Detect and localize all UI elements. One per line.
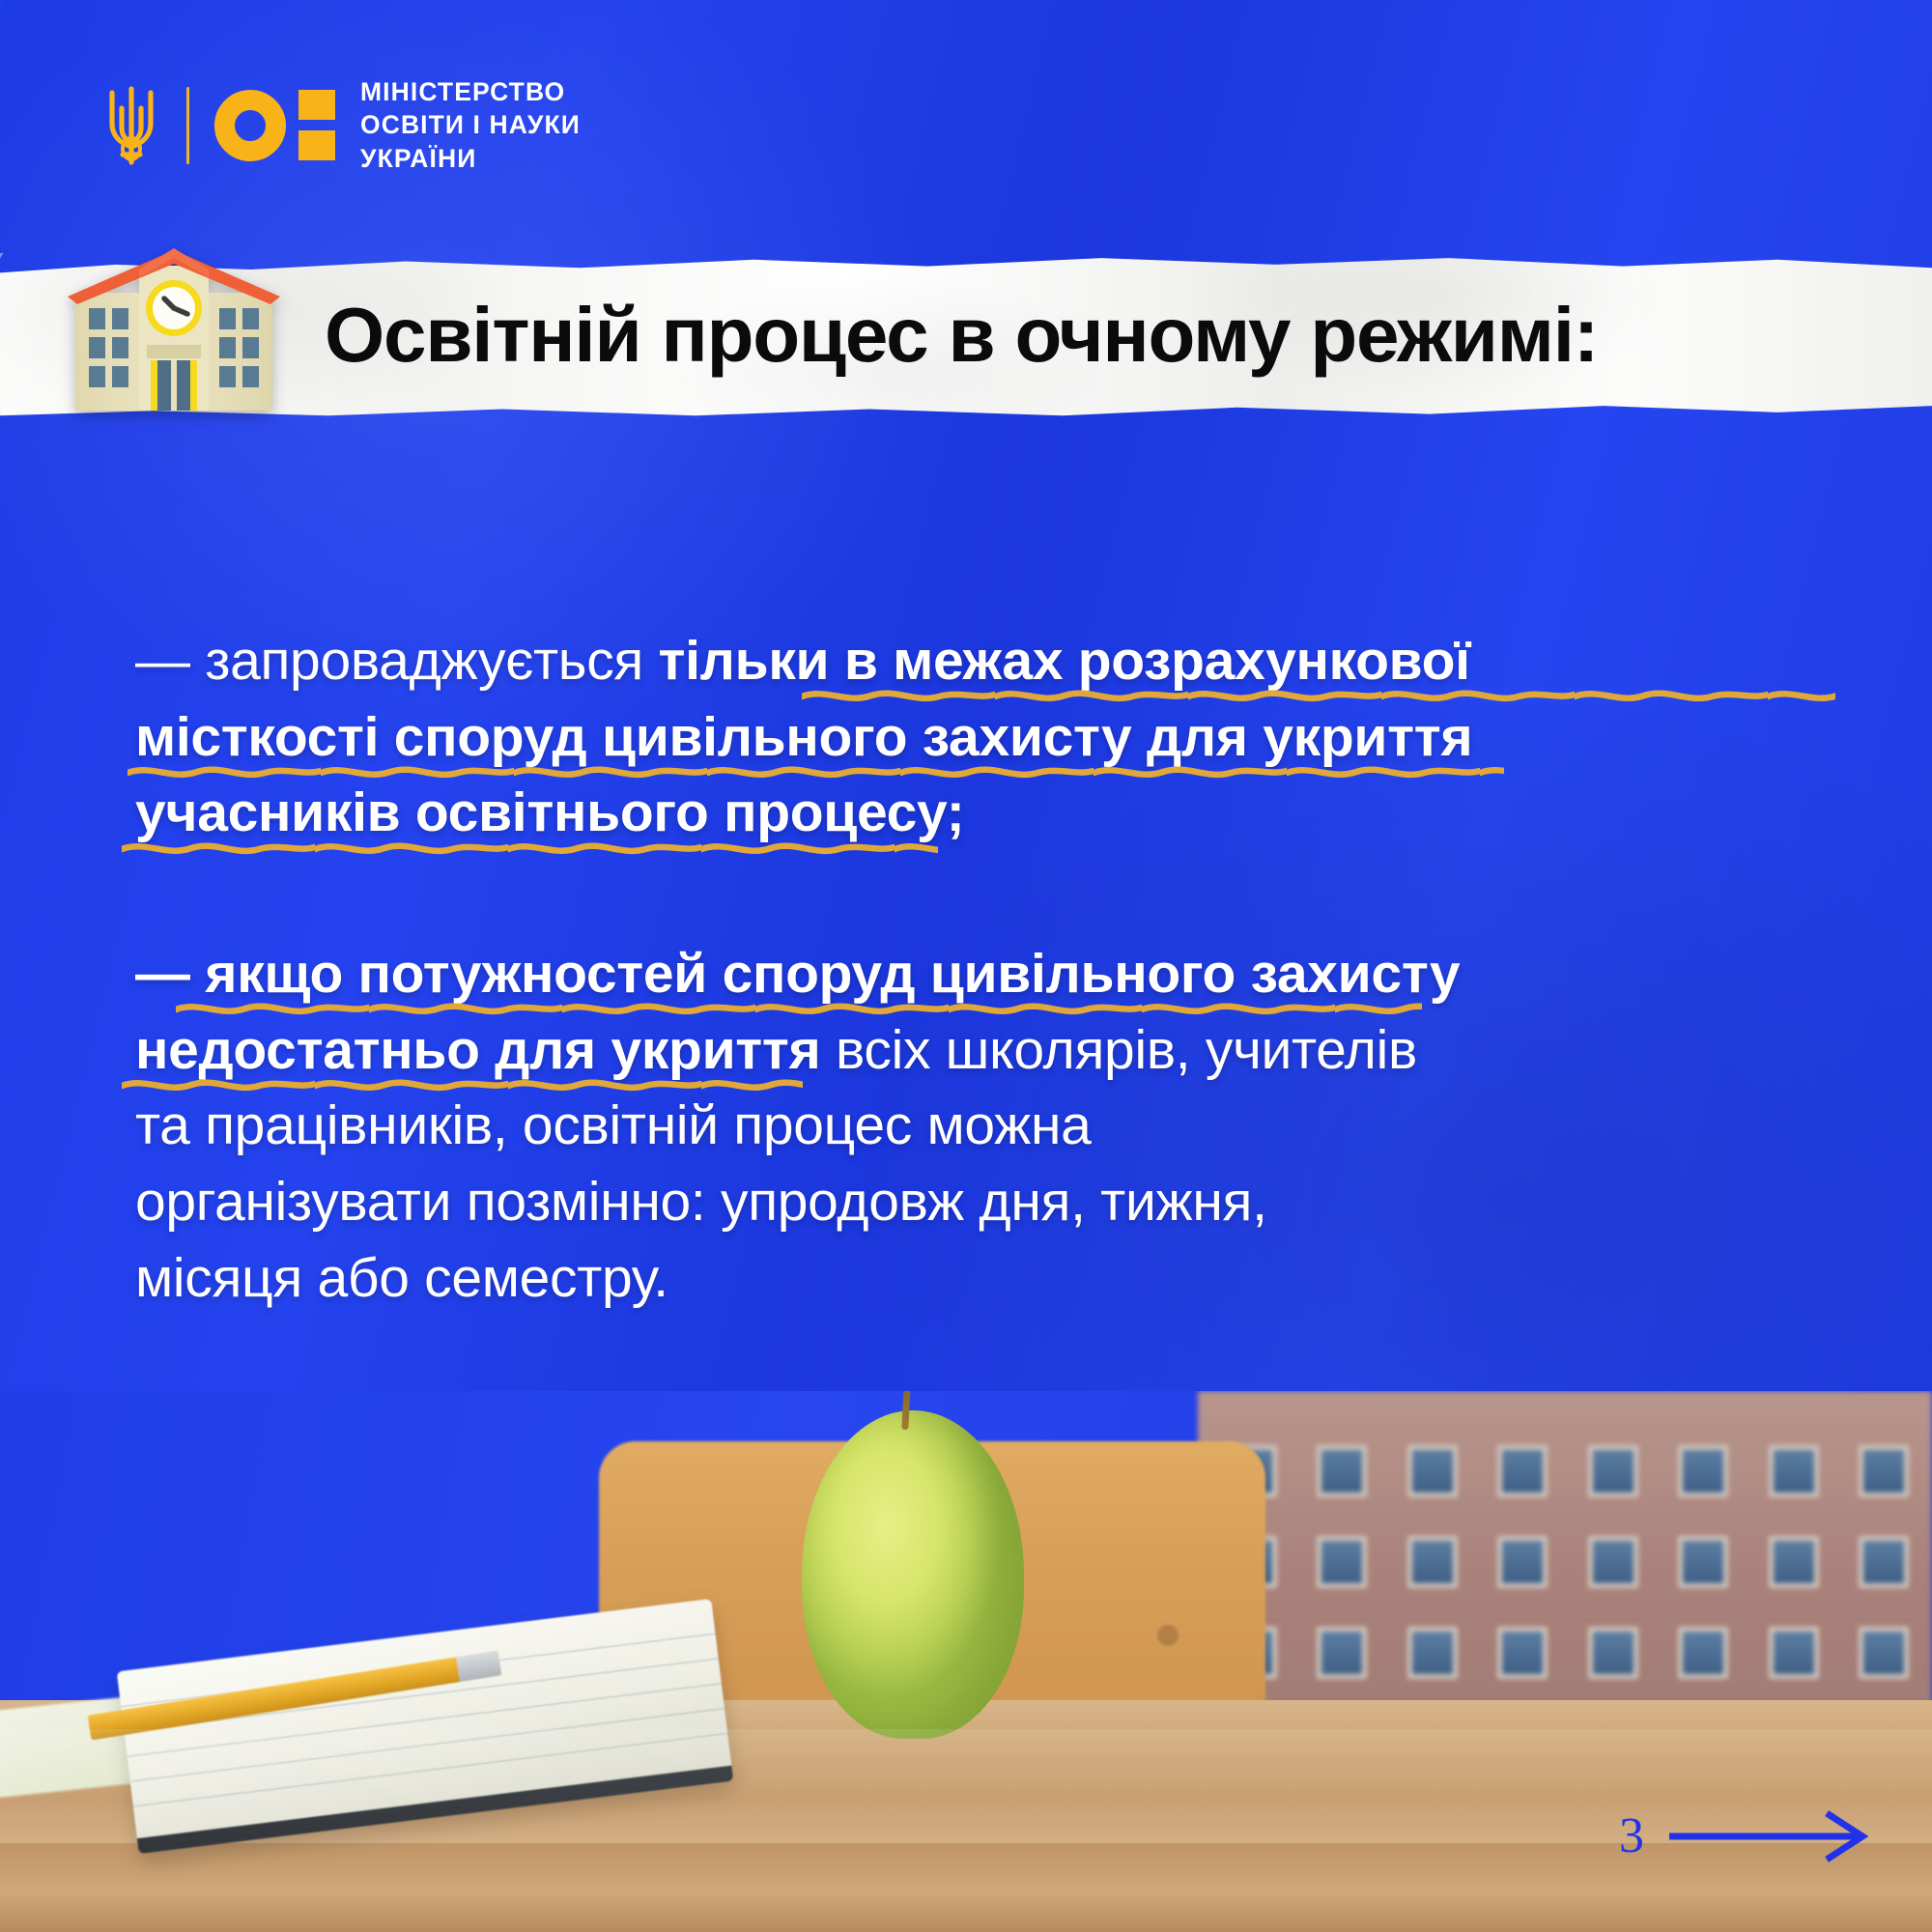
ministry-logo-bar: МІНІСТЕРСТВО ОСВІТИ І НАУКИ УКРАЇНИ <box>101 75 581 175</box>
body-content: — запроваджується тільки в межах розраху… <box>135 623 1835 1316</box>
paragraph-2: — якщо потужностей споруд цивільного зах… <box>135 936 1835 1316</box>
p2-l2-bold: недостатньо для укриття <box>135 1019 821 1081</box>
p2-l2-plain: всіх школярів, учителів <box>821 1019 1418 1081</box>
p1-l2-bold: місткості споруд цивільного захисту для … <box>135 706 1472 768</box>
page-title: Освітній процес в очному режимі: <box>325 253 1598 417</box>
p2-l4-plain: організувати позмінно: упродовж дня, тиж… <box>135 1171 1267 1233</box>
paragraph-2-line-1: — якщо потужностей споруд цивільного зах… <box>135 936 1835 1012</box>
paragraph-1-line-3: учасників освітнього процесу; <box>135 775 1835 851</box>
paragraph-2-line-3: та працівників, освітній процес можна <box>135 1088 1835 1164</box>
p1-l1-plain: запроваджується <box>190 630 659 692</box>
arrow-right-icon[interactable] <box>1669 1810 1872 1862</box>
page-indicator[interactable]: 3 <box>1619 1810 1872 1862</box>
school-building-emoji <box>58 237 290 411</box>
poster-canvas: МІНІСТЕРСТВО ОСВІТИ І НАУКИ УКРАЇНИ Осві… <box>0 0 1932 1932</box>
ministry-name-text: МІНІСТЕРСТВО ОСВІТИ І НАУКИ УКРАЇНИ <box>360 75 581 175</box>
list-dash: — <box>135 943 190 1005</box>
ukraine-trident-emblem <box>101 79 161 172</box>
green-apple <box>802 1410 1024 1739</box>
logo-circle-glyph <box>214 90 286 161</box>
logo-divider <box>186 87 189 164</box>
p2-l5-plain: місяця або семестру. <box>135 1247 668 1309</box>
paragraph-2-line-2: недостатньо для укриття всіх школярів, у… <box>135 1012 1835 1089</box>
p1-l1-bold: тільки в межах розрахункової <box>659 630 1470 692</box>
paragraph-1: — запроваджується тільки в межах розраху… <box>135 623 1835 851</box>
page-number: 3 <box>1619 1811 1644 1861</box>
title-banner: Освітній процес в очному режимі: <box>0 253 1932 417</box>
list-dash: — <box>135 630 190 692</box>
p1-l3-bold: учасників освітнього процесу; <box>135 781 964 843</box>
p2-l1-bold: якщо потужностей споруд цивільного захис… <box>190 943 1461 1005</box>
paragraph-2-line-4: організувати позмінно: упродовж дня, тиж… <box>135 1164 1835 1240</box>
p2-l3-plain: та працівників, освітній процес можна <box>135 1094 1092 1156</box>
mon-logo-mark <box>214 90 335 161</box>
paragraph-1-line-2: місткості споруд цивільного захисту для … <box>135 699 1835 776</box>
paragraph-2-line-5: місяця або семестру. <box>135 1240 1835 1317</box>
logo-equals-glyph <box>298 90 335 160</box>
paragraph-1-line-1: — запроваджується тільки в межах розраху… <box>135 623 1835 699</box>
